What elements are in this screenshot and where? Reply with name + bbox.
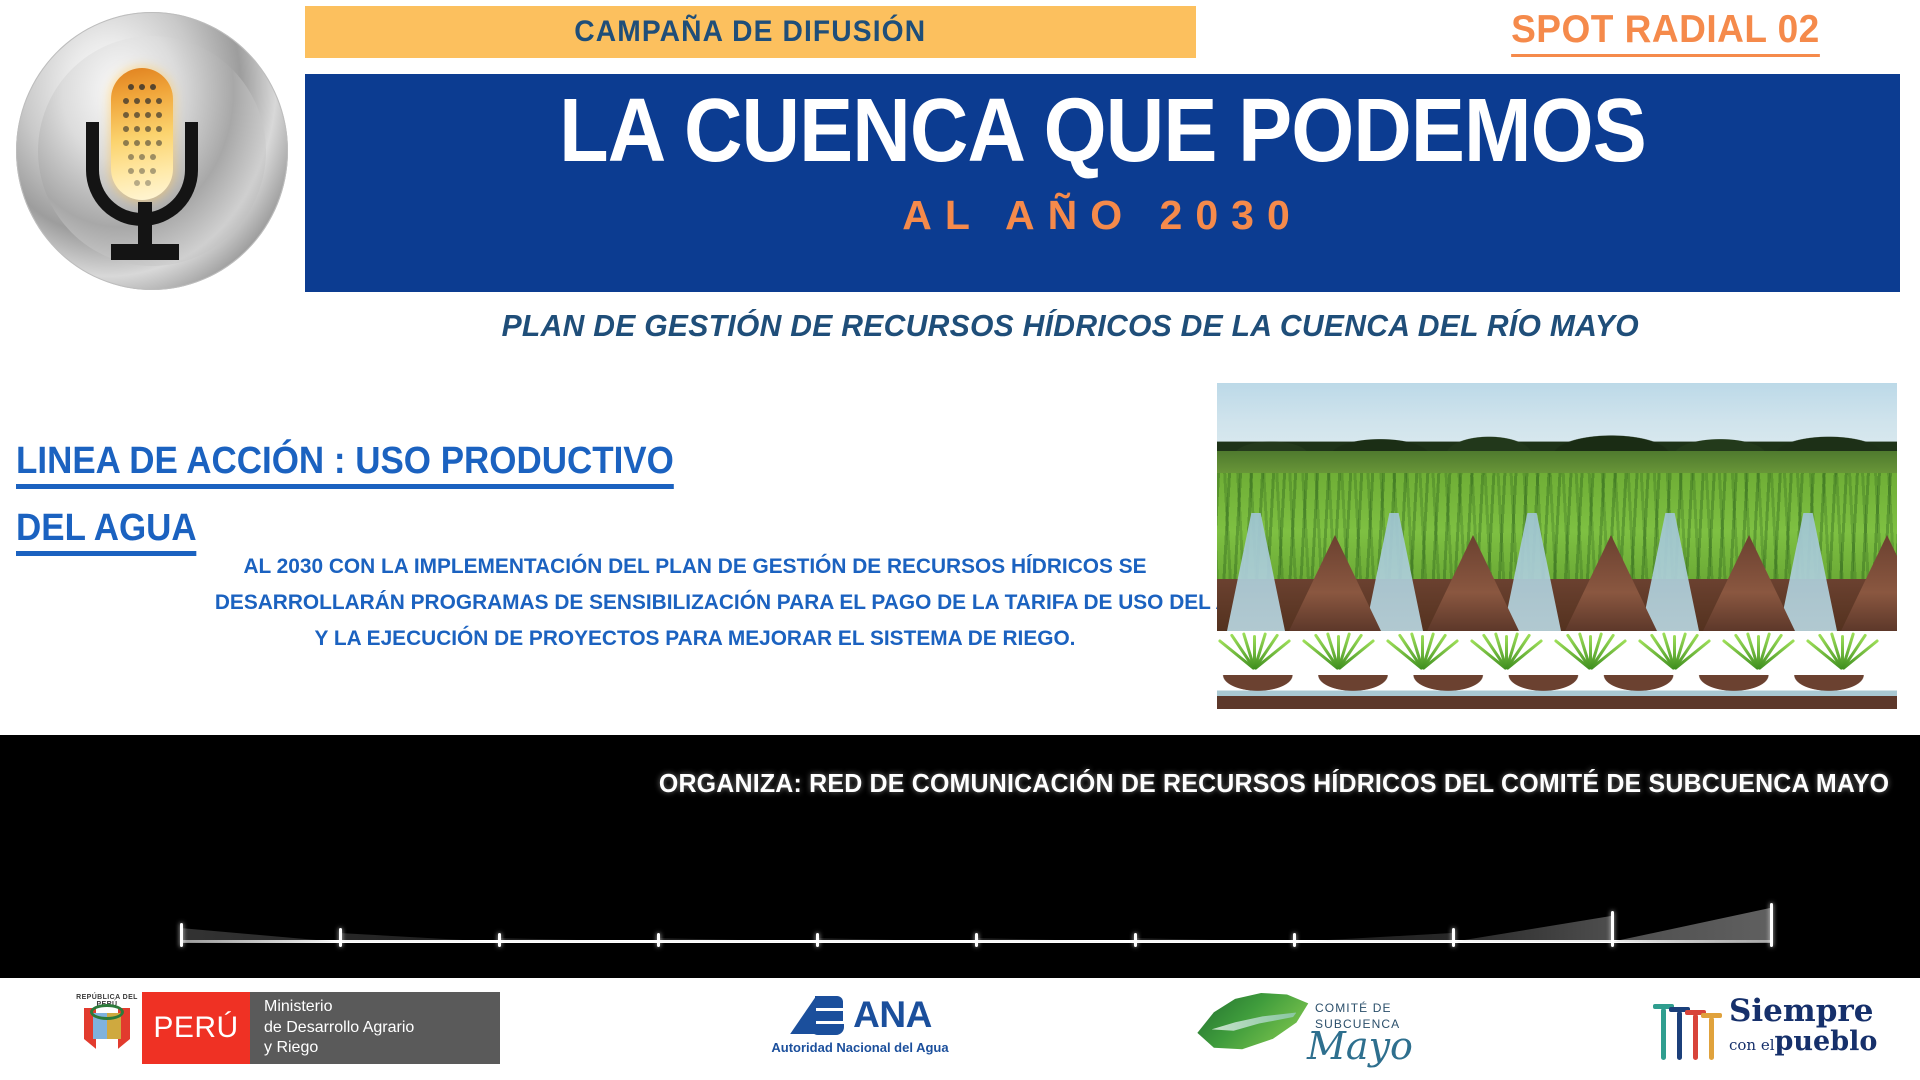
tassel-icon (1709, 1013, 1714, 1060)
waveform-tick (1611, 911, 1614, 947)
waveform-tick (1293, 933, 1296, 947)
ana-acronym: ANA (853, 994, 932, 1036)
siempre-big-text: pueblo (1775, 1026, 1878, 1057)
photo-grass-tuft (1815, 617, 1869, 669)
plan-line-text: PLAN DE GESTIÓN DE RECURSOS HÍDRICOS DE … (501, 308, 1638, 344)
headline-banner: LA CUENCA QUE PODEMOS AL AÑO 2030 (305, 74, 1900, 292)
photo-grass-tuft (1731, 617, 1785, 669)
logo-siempre-con-el-pueblo: Siempre con elpueblo (1655, 992, 1895, 1064)
campaign-banner: CAMPAÑA DE DIFUSIÓN (305, 6, 1196, 58)
logo-autoridad-nacional-del-agua: ANA Autoridad Nacional del Agua (735, 992, 985, 1055)
ana-wave-icon (788, 992, 846, 1038)
footer-logo-strip: REPÚBLICA DEL PERÚ PERÚ Ministerio de De… (0, 978, 1920, 1080)
waveform-tick (1134, 933, 1137, 947)
leaf-icon (1195, 990, 1313, 1064)
tassel-icons (1655, 998, 1721, 1060)
tassel-icon (1693, 1010, 1698, 1060)
coat-of-arms-wreath (90, 1004, 124, 1020)
ana-logo-row: ANA (735, 992, 985, 1038)
linea-de-accion-block: LINEA DE ACCIÓN : USO PRODUCTIVO DEL AGU… (16, 440, 696, 556)
waveform-tick (1452, 928, 1455, 947)
siempre-line-1: Siempre (1729, 996, 1877, 1027)
body-copy-line-3: Y LA EJECUCIÓN DE PROYECTOS PARA MEJORAR… (215, 620, 1175, 656)
waveform-tick (339, 928, 342, 947)
spot-radial-label: SPOT RADIAL 02 (1511, 8, 1820, 57)
linea-de-accion-line1: LINEA DE ACCIÓN : USO PRODUCTIVO (16, 440, 674, 489)
photo-soil-mounds (1217, 675, 1897, 709)
microphone-logo-icon (8, 6, 298, 296)
photo-grass-tuft (1563, 617, 1617, 669)
ministerio-line-3: y Riego (264, 1038, 500, 1058)
waveform-segment (180, 928, 339, 942)
waveform-tick (975, 933, 978, 947)
body-copy: AL 2030 CON LA IMPLEMENTACIÓN DEL PLAN D… (215, 548, 1175, 656)
body-copy-line-2: DESARROLLARÁN PROGRAMAS DE SENSIBILIZACI… (215, 584, 1175, 620)
waveform-tick (498, 933, 501, 947)
linea-de-accion-line2: DEL AGUA (16, 507, 197, 556)
campaign-banner-label: CAMPAÑA DE DIFUSIÓN (574, 15, 926, 49)
waveform-segment (1611, 908, 1770, 942)
photo-grass-tuft (1227, 617, 1281, 669)
tassel-icon (1677, 1007, 1682, 1060)
photo-grass-tuft (1479, 617, 1533, 669)
microphone-stem (138, 202, 152, 250)
photo-grass-row (1217, 619, 1897, 679)
headline-subtitle: AL AÑO 2030 (305, 192, 1900, 239)
siempre-line-2: con elpueblo (1729, 1028, 1877, 1055)
ministerio-line-2: de Desarrollo Agrario (264, 1018, 500, 1038)
ministerio-wordmark: Ministerio de Desarrollo Agrario y Riego (250, 992, 500, 1064)
photo-grass-tuft (1311, 617, 1365, 669)
tassel-icon (1661, 1004, 1666, 1060)
waveform-tick (180, 923, 183, 947)
microphone-base (111, 244, 179, 260)
body-copy-line-1: AL 2030 CON LA IMPLEMENTACIÓN DEL PLAN D… (215, 548, 1175, 584)
spot-radial-label-wrap: SPOT RADIAL 02 (1430, 8, 1900, 56)
siempre-small-text: con el (1729, 1036, 1775, 1054)
irrigated-field-photo (1217, 383, 1897, 710)
photo-grass-tuft (1647, 617, 1701, 669)
logo-comite-subcuenca-mayo: COMITÉ DE SUBCUENCA Mayo (1195, 984, 1425, 1076)
plan-line-wrap: PLAN DE GESTIÓN DE RECURSOS HÍDRICOS DE … (240, 305, 1900, 347)
siempre-wordmark: Siempre con elpueblo (1729, 996, 1877, 1055)
peru-wordmark: PERÚ (142, 992, 250, 1064)
organiza-section: ORGANIZA: RED DE COMUNICACIÓN DE RECURSO… (0, 735, 1920, 978)
headline-title: LA CUENCA QUE PODEMOS (385, 84, 1821, 179)
mayo-line-1: COMITÉ DE (1315, 1000, 1400, 1016)
audio-waveform (180, 883, 1770, 961)
ana-subtitle: Autoridad Nacional del Agua (735, 1040, 985, 1055)
photo-grass-tuft (1395, 617, 1449, 669)
mayo-script-wordmark: Mayo (1307, 1024, 1413, 1068)
ministerio-line-1: Ministerio (264, 997, 500, 1017)
waveform-tick (657, 933, 660, 947)
poster-canvas: CAMPAÑA DE DIFUSIÓN SPOT RADIAL 02 LA CU… (0, 0, 1920, 1080)
waveform-tick (1770, 903, 1773, 947)
waveform-segment (1452, 916, 1611, 942)
waveform-tick (816, 933, 819, 947)
logo-ministerio-desarrollo-agrario: REPÚBLICA DEL PERÚ PERÚ Ministerio de De… (72, 992, 500, 1064)
organiza-text: ORGANIZA: RED DE COMUNICACIÓN DE RECURSO… (77, 768, 1920, 799)
waveform-segment (1293, 933, 1452, 942)
waveform-segment (339, 933, 498, 942)
peru-coat-of-arms-icon: REPÚBLICA DEL PERÚ (72, 992, 142, 1064)
